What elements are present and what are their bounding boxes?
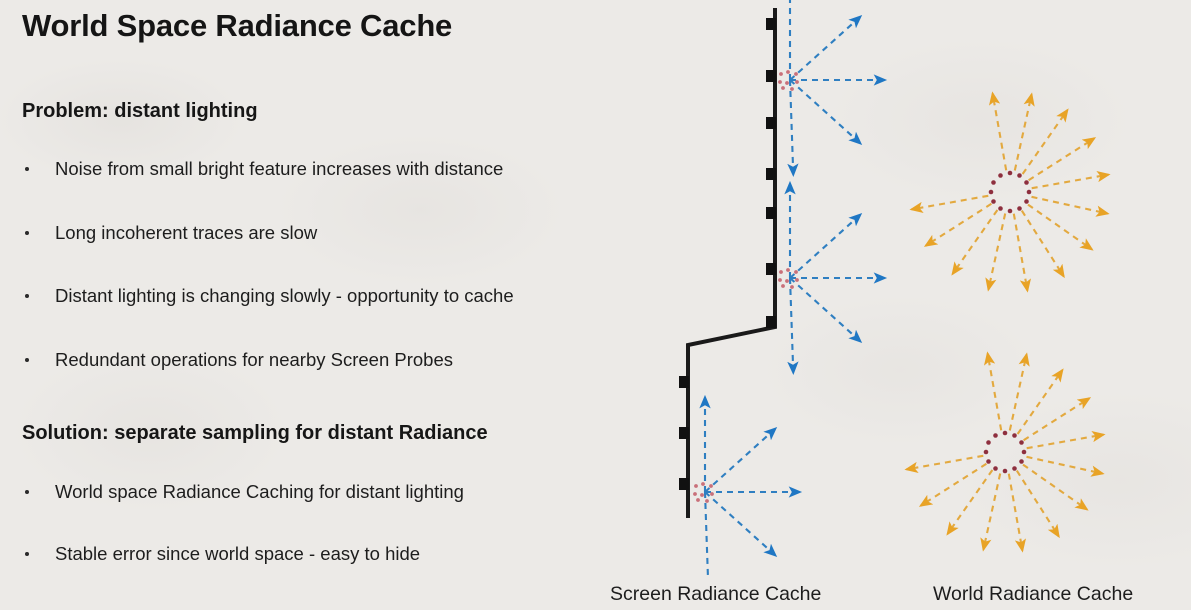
probe-marker-1	[766, 70, 776, 82]
world-fan-bottom-sample-dot-6	[1003, 469, 1008, 474]
bullet-dot-icon	[25, 294, 29, 298]
problem-bullet-2: Distant lighting is changing slowly - op…	[22, 287, 514, 306]
screen-fan-top-sample-dot-6	[781, 86, 785, 90]
bullet-label: Stable error since world space - easy to…	[55, 543, 420, 564]
screen-radiance-cache-rays	[693, 0, 885, 575]
screen-fan-bottom-sample-dot-0	[694, 484, 698, 488]
screen-fan-bottom-ray-3	[705, 492, 776, 556]
world-fan-top-ray-9	[988, 214, 1005, 290]
world-fan-bottom-ray-1	[1010, 354, 1027, 430]
screen-probe-markers	[679, 18, 776, 490]
world-fan-top-ray-1	[1015, 94, 1032, 170]
world-fan-top-sample-dot-0	[1008, 171, 1013, 176]
solution-bullet-list: World space Radiance Caching for distant…	[22, 483, 464, 606]
world-fan-bottom-ray-2	[1018, 370, 1063, 434]
screen-fan-bottom-sample-dot-5	[710, 492, 714, 496]
solution-bullet-1: Stable error since world space - easy to…	[22, 545, 464, 564]
probe-marker-9	[679, 478, 689, 490]
world-fan-bottom-sample-dot-10	[986, 440, 991, 445]
screen-fan-bottom-sample-dot-6	[696, 498, 700, 502]
screen-fan-top-sample-dot-1	[786, 70, 790, 74]
world-fan-bottom-sample-dot-2	[1019, 440, 1024, 445]
world-fan-top	[912, 94, 1109, 291]
probe-marker-0	[766, 18, 776, 30]
world-fan-top-sample-dot-9	[989, 190, 994, 195]
world-fan-bottom-sample-dot-9	[984, 450, 989, 455]
screen-fan-bottom-ray-1	[705, 428, 776, 492]
probe-marker-8	[679, 427, 689, 439]
world-fan-bottom-ray-5	[1027, 457, 1103, 474]
screen-fan-middle-sample-dot-6	[781, 284, 785, 288]
screen-fan-bottom-sample-dot-1	[701, 482, 705, 486]
world-fan-top-ray-7	[1022, 211, 1064, 277]
screen-fan-middle-sample-dot-4	[785, 279, 789, 283]
screen-fan-middle-sample-dot-7	[790, 285, 794, 289]
caption-screen-radiance-cache: Screen Radiance Cache	[610, 583, 821, 606]
solution-bullet-0: World space Radiance Caching for distant…	[22, 483, 464, 502]
world-fan-bottom-sample-dot-4	[1019, 459, 1024, 464]
probe-marker-4	[766, 207, 776, 219]
world-fan-bottom-ray-3	[1024, 398, 1090, 440]
bullet-label: Long incoherent traces are slow	[55, 222, 317, 243]
screen-fan-middle-ray-4	[790, 278, 793, 373]
problem-bullet-0: Noise from small bright feature increase…	[22, 160, 514, 179]
world-fan-bottom-sample-dot-5	[1012, 466, 1017, 471]
world-fan-bottom-sample-dot-7	[993, 466, 998, 471]
screen-fan-top-sample-dot-5	[795, 80, 799, 84]
world-fan-bottom-sample-dot-11	[993, 433, 998, 438]
bullet-label: Redundant operations for nearby Screen P…	[55, 349, 453, 370]
screen-fan-middle-sample-dot-0	[779, 270, 783, 274]
probe-marker-7	[679, 376, 689, 388]
page-title: World Space Radiance Cache	[22, 8, 452, 44]
screen-fan-bottom-sample-dot-2	[709, 484, 713, 488]
probe-marker-2	[766, 117, 776, 129]
world-fan-top-sample-dot-6	[1008, 209, 1013, 214]
screen-fan-top-ray-1	[790, 16, 861, 80]
world-fan-bottom-sample-dot-1	[1012, 433, 1017, 438]
world-fan-bottom-ray-8	[1009, 474, 1023, 551]
bullet-dot-icon	[25, 552, 29, 556]
world-radiance-cache-rays	[907, 94, 1109, 551]
screen-fan-bottom-sample-dot-3	[693, 492, 697, 496]
screen-fan-top-sample-dot-7	[790, 87, 794, 91]
screen-fan-bottom-ray-4	[705, 492, 708, 575]
world-fan-top-sample-dot-7	[998, 206, 1003, 211]
screen-fan-middle	[778, 183, 885, 373]
world-fan-bottom-ray-7	[1017, 471, 1059, 537]
world-fan-top-sample-dot-5	[1017, 206, 1022, 211]
bullet-label: World space Radiance Caching for distant…	[55, 481, 464, 502]
world-fan-top-sample-dot-4	[1024, 199, 1029, 204]
world-fan-top-ray-4	[1032, 175, 1109, 189]
probe-marker-5	[766, 263, 776, 275]
bullet-dot-icon	[25, 358, 29, 362]
world-fan-top-ray-12	[912, 196, 989, 210]
world-fan-top-ray-6	[1028, 205, 1092, 250]
world-fan-bottom-ray-4	[1027, 435, 1104, 449]
screen-fan-bottom-sample-dot-7	[705, 499, 709, 503]
world-fan-top-sample-dot-10	[991, 180, 996, 185]
bullet-dot-icon	[25, 490, 29, 494]
world-fan-top-sample-dot-1	[1017, 173, 1022, 178]
world-fan-top-ray-8	[1014, 214, 1028, 291]
world-fan-top-sample-dot-2	[1024, 180, 1029, 185]
world-fan-bottom-sample-dot-8	[986, 459, 991, 464]
bullet-label: Noise from small bright feature increase…	[55, 158, 503, 179]
world-fan-top-sample-dot-8	[991, 199, 996, 204]
world-fan-top-ray-2	[1023, 110, 1068, 174]
world-fan-bottom-sample-dot-3	[1022, 450, 1027, 455]
bullet-label: Distant lighting is changing slowly - op…	[55, 285, 514, 306]
screen-fan-bottom-sample-dot-4	[700, 493, 704, 497]
bullet-dot-icon	[25, 167, 29, 171]
screen-fan-top-sample-dot-3	[778, 80, 782, 84]
world-fan-bottom-ray-10	[948, 470, 993, 534]
screen-fan-middle-sample-dot-2	[794, 270, 798, 274]
screen-fan-middle-sample-dot-5	[795, 278, 799, 282]
world-fan-top-ray-10	[953, 210, 998, 274]
screen-fan-top-sample-dot-4	[785, 81, 789, 85]
screen-fan-middle-sample-dot-3	[778, 278, 782, 282]
screen-fan-top	[778, 0, 885, 175]
solution-heading: Solution: separate sampling for distant …	[22, 422, 488, 445]
radiance-cache-diagram	[640, 0, 1191, 575]
problem-heading: Problem: distant lighting	[22, 100, 258, 123]
problem-bullet-3: Redundant operations for nearby Screen P…	[22, 351, 514, 370]
probe-marker-3	[766, 168, 776, 180]
bullet-dot-icon	[25, 231, 29, 235]
screen-fan-top-sample-dot-0	[779, 72, 783, 76]
problem-bullet-list: Noise from small bright feature increase…	[22, 160, 514, 414]
world-fan-bottom-ray-12	[907, 456, 984, 470]
screen-fan-middle-sample-dot-1	[786, 268, 790, 272]
world-fan-bottom	[907, 354, 1104, 551]
screen-fan-middle-ray-1	[790, 214, 861, 278]
world-fan-top-ray-0	[993, 94, 1007, 171]
world-fan-bottom-ray-9	[983, 474, 1000, 550]
world-fan-bottom-sample-dot-0	[1003, 431, 1008, 436]
problem-bullet-1: Long incoherent traces are slow	[22, 224, 514, 243]
world-fan-top-ray-11	[926, 204, 992, 246]
probe-marker-6	[766, 316, 776, 328]
screen-fan-top-ray-4	[790, 80, 793, 175]
world-fan-bottom-ray-11	[921, 464, 987, 506]
world-fan-top-ray-3	[1029, 138, 1095, 180]
screen-fan-bottom	[693, 397, 800, 575]
slide-content: World Space Radiance Cache Problem: dist…	[0, 0, 1191, 610]
world-fan-top-sample-dot-3	[1027, 190, 1032, 195]
screen-fan-top-ray-3	[790, 80, 861, 144]
world-fan-top-ray-5	[1032, 197, 1108, 214]
screen-fan-top-sample-dot-2	[794, 72, 798, 76]
screen-fan-middle-ray-3	[790, 278, 861, 342]
caption-world-radiance-cache: World Radiance Cache	[933, 583, 1133, 606]
world-fan-bottom-ray-6	[1023, 465, 1087, 510]
world-fan-bottom-ray-0	[988, 354, 1002, 431]
world-fan-top-sample-dot-11	[998, 173, 1003, 178]
